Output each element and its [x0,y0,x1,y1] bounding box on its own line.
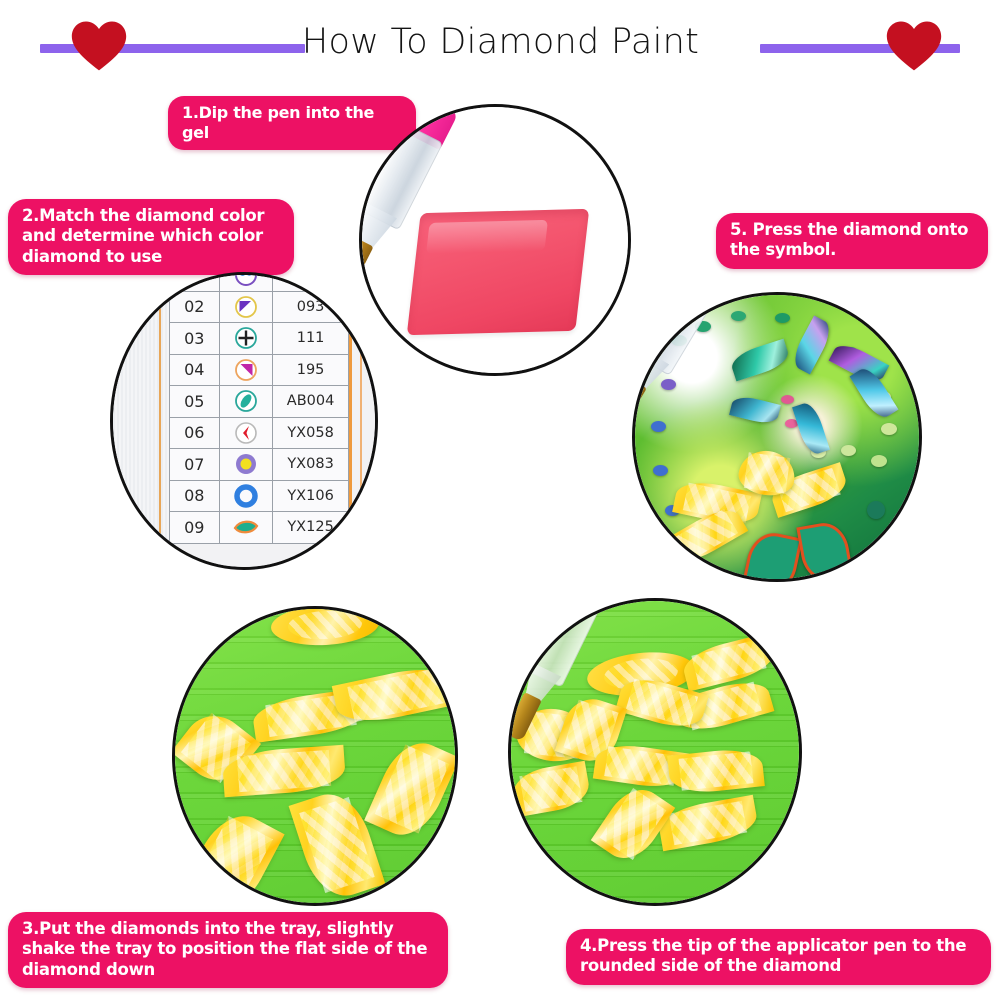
chart-row-no: 05 [170,386,220,418]
step-4-label: 4.Press the tip of the applicator pen to… [566,929,991,985]
table-row: 03 111 [170,323,349,355]
chart-row-no: 06 [170,417,220,449]
step-3-photo-diamond-tray [172,606,458,906]
chart-row-code: 093 [273,291,349,323]
symbol-teal-leaf-icon [219,512,273,544]
table-row: 05 AB004 [170,386,349,418]
step-4-photo-pen-picking-diamond [508,598,802,906]
table-row: 020 [170,275,349,291]
table-row: 09 YX125 [170,512,349,544]
step-2-photo-color-chart: 020 02 093 03 111 [110,272,378,570]
symbol-teal-ellipse-icon [219,386,273,418]
step-2-label: 2.Match the diamond color and determine … [8,199,294,275]
gel-pad [407,209,590,335]
symbol-red-chevron-icon [219,417,273,449]
step-5-photo-diamond-on-canvas [632,292,922,582]
heart-icon-right [885,17,943,73]
chart-row-code: 020 [273,275,349,291]
chart-row-code: 195 [273,354,349,386]
symbol-yellow-dot-in-purple-ring-icon [219,449,273,481]
chart-row-no [170,275,220,291]
chart-row-no: 08 [170,480,220,512]
chart-row-code: AB004 [273,386,349,418]
table-row: 08 YX106 [170,480,349,512]
chart-row-code: 111 [273,323,349,355]
symbol-purple-triangle-icon [219,291,273,323]
table-row: 04 195 [170,354,349,386]
chart-row-no: 02 [170,291,220,323]
symbol-blue-double-dot-icon [219,275,273,291]
chart-row-code: YX058 [273,417,349,449]
symbol-magenta-triangle-icon [219,354,273,386]
symbol-blue-ring-icon [219,480,273,512]
infographic-canvas: How To Diamond Paint 1.Dip the pen into … [0,0,1001,1001]
table-row: 06 YX058 [170,417,349,449]
table-row: 07 YX083 [170,449,349,481]
color-chart-table: 020 02 093 03 111 [169,275,349,544]
chart-row-no: 09 [170,512,220,544]
chart-row-code: YX083 [273,449,349,481]
table-row: 02 093 [170,291,349,323]
symbol-plus-icon [219,323,273,355]
chart-row-no: 07 [170,449,220,481]
chart-row-no: 03 [170,323,220,355]
step-5-label: 5. Press the diamond onto the symbol. [716,213,988,269]
chart-row-no: 04 [170,354,220,386]
step-3-label: 3.Put the diamonds into the tray, slight… [8,912,448,988]
chart-row-code: YX106 [273,480,349,512]
header: How To Diamond Paint [0,0,1001,80]
step-1-photo-pen-in-gel [359,104,631,376]
page-title: How To Diamond Paint [0,22,1001,62]
chart-row-code: YX125 [273,512,349,544]
